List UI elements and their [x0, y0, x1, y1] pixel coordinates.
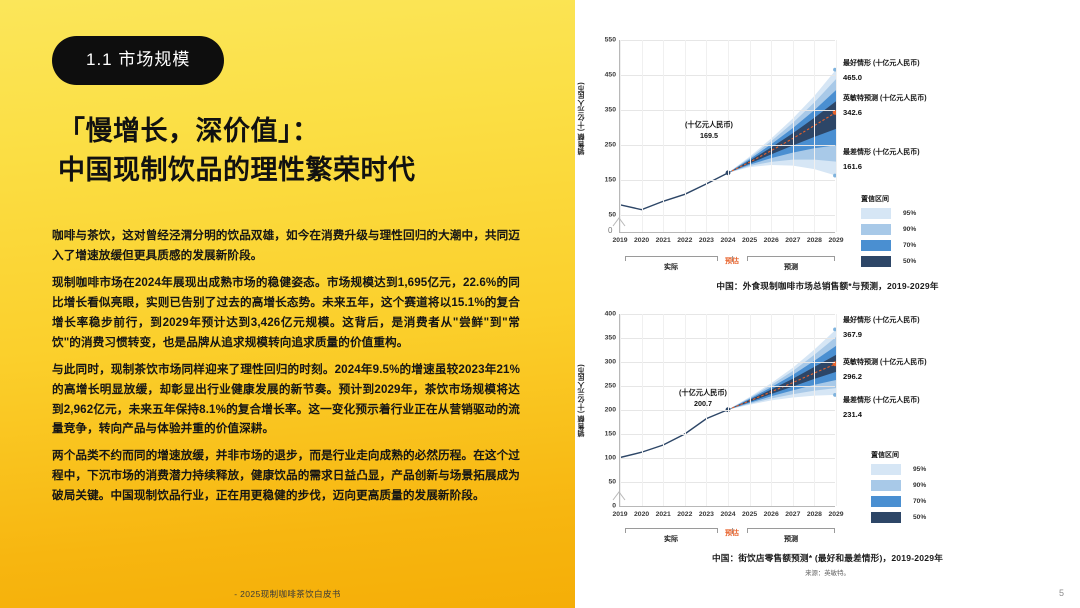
x-axis-tick: 2024: [720, 511, 735, 518]
headline-line-2: 中国现制饮品的理性繁荣时代: [58, 151, 528, 190]
chart2-current-annotation: (十亿元人民币) 200.7: [679, 388, 727, 410]
gridline-vertical: [771, 314, 772, 506]
section-number-badge: 1.1 市场规模: [52, 36, 224, 85]
x-axis-tick: 2023: [699, 237, 714, 244]
chart2-legend-label-50: 50%: [913, 514, 926, 521]
chart2-legend-title: 置信区间: [871, 450, 899, 460]
chart1-legend-swatch-50: [861, 256, 891, 267]
chart2-best-case-label: 最好情形 (十亿元人民币): [843, 317, 920, 324]
chart2-worst-case-label: 最差情形 (十亿元人民币): [843, 397, 920, 404]
chart2-legend-row-95: 95%: [871, 464, 926, 475]
chart1-legend-row-70: 70%: [861, 240, 916, 251]
chart2-worst-case-value: 231.4: [843, 409, 920, 420]
chart1-legend-label-50: 50%: [903, 258, 916, 265]
gridline-vertical: [771, 40, 772, 232]
y-axis-tick: 200: [605, 407, 616, 414]
chart2-legend-label-95: 95%: [913, 466, 926, 473]
chart2-best-case-value: 367.9: [843, 329, 920, 340]
gridline-vertical: [814, 40, 815, 232]
chart2-bracket-label-forecast: 预测: [784, 534, 798, 544]
gridline-vertical: [728, 314, 729, 506]
x-axis-tick: 2022: [677, 511, 692, 518]
x-axis-tick: 2020: [634, 237, 649, 244]
x-axis-tick: 2029: [828, 511, 843, 518]
gridline-vertical: [685, 314, 686, 506]
gridline-vertical: [642, 40, 643, 232]
historical-line: [620, 173, 728, 210]
x-axis-tick: 2026: [764, 511, 779, 518]
x-axis-tick: 2027: [785, 237, 800, 244]
page-title: 「慢增长，深价值」： 中国现制饮品的理性繁荣时代: [58, 112, 528, 190]
chart1-current-annotation: (十亿元人民币) 169.5: [685, 120, 733, 142]
chart1-mintel-value: 342.6: [843, 107, 927, 118]
x-axis-tick: 2022: [677, 237, 692, 244]
chart1-bracket-label-actual: 实际: [664, 262, 678, 272]
paragraph-4: 两个品类不约而同的增速放缓，并非市场的退步，而是行业走向成熟的必然历程。在这个过…: [52, 446, 520, 506]
x-axis-tick: 2028: [807, 237, 822, 244]
x-axis-tick: 2024: [720, 237, 735, 244]
paragraph-3: 与此同时，现制茶饮市场同样迎来了理性回归的时刻。2024年9.5%的增速虽较20…: [52, 360, 520, 440]
chart-coffee-market: 销售额 (十亿元人民币) 501502503504505502019202020…: [575, 22, 1080, 300]
chart2-axis-break-mark: [611, 488, 631, 504]
chart1-x-axis: [619, 232, 835, 233]
paragraph-1: 咖啡与茶饮，这对曾经泾渭分明的饮品双雄，如今在消费升级与理性回归的大潮中，共同迈…: [52, 226, 520, 266]
chart1-y-axis-label: 销售额 (十亿元人民币): [577, 82, 587, 155]
chart1-bracket-label-forecast: 预测: [784, 262, 798, 272]
y-axis-tick: 100: [605, 455, 616, 462]
chart2-legend-swatch-70: [871, 496, 901, 507]
gridline-vertical: [620, 314, 621, 506]
gridline-vertical: [836, 314, 837, 506]
chart1-bracket-label-estimate: 预估: [725, 256, 739, 266]
chart2-legend-label-90: 90%: [913, 482, 926, 489]
chart1-worst-case-annotation: 最差情形 (十亿元人民币) 161.6: [843, 148, 920, 172]
chart1-legend-swatch-70: [861, 240, 891, 251]
x-axis-tick: 2019: [612, 511, 627, 518]
chart1-caption: 中国：外食现制咖啡市场总销售额*与预测，2019-2029年: [575, 280, 1080, 292]
gridline-vertical: [793, 314, 794, 506]
y-axis-tick: 450: [605, 71, 616, 78]
body-copy: 咖啡与茶饮，这对曾经泾渭分明的饮品双雄，如今在消费升级与理性回归的大潮中，共同迈…: [52, 226, 520, 513]
chart2-caption: 中国：街饮店零售额预测* (最好和最差情形)，2019-2029年: [575, 552, 1080, 564]
chart1-current-value: 169.5: [700, 131, 718, 140]
gridline-vertical: [836, 40, 837, 232]
chart1-best-case-value: 465.0: [843, 72, 920, 83]
x-axis-tick: 2021: [656, 511, 671, 518]
x-axis-tick: 2019: [612, 237, 627, 244]
gridline-vertical: [750, 314, 751, 506]
chart1-mintel-forecast-annotation: 英敏特预测 (十亿元人民币) 342.6: [843, 94, 927, 118]
chart1-best-case-annotation: 最好情形 (十亿元人民币) 465.0: [843, 59, 920, 83]
chart2-y-axis-label: 销售额 (十亿元人民币): [577, 364, 587, 437]
y-axis-tick: 150: [605, 176, 616, 183]
chart1-best-case-label: 最好情形 (十亿元人民币): [843, 60, 920, 67]
x-axis-tick: 2021: [656, 237, 671, 244]
gridline-vertical: [750, 40, 751, 232]
y-axis-tick: 550: [605, 37, 616, 44]
chart2-source: 来源：英敏特。: [575, 568, 1080, 577]
chart2-mintel-value: 296.2: [843, 371, 927, 382]
chart1-legend-title: 置信区间: [861, 194, 889, 204]
x-axis-tick: 2020: [634, 511, 649, 518]
chart1-bracket-actual: [625, 256, 718, 261]
chart2-legend-swatch-90: [871, 480, 901, 491]
chart1-legend-label-95: 95%: [903, 210, 916, 217]
y-axis-tick: 350: [605, 106, 616, 113]
headline-line-1: 「慢增长，深价值」：: [58, 112, 528, 151]
y-axis-tick: 250: [605, 141, 616, 148]
chart1-mintel-label: 英敏特预测 (十亿元人民币): [843, 95, 927, 102]
chart2-mintel-forecast-annotation: 英敏特预测 (十亿元人民币) 296.2: [843, 358, 927, 382]
chart2-bracket-label-estimate: 预估: [725, 528, 739, 538]
chart1-legend-row-95: 95%: [861, 208, 916, 219]
footer-text: - 2025现制咖啡茶饮白皮书: [0, 588, 575, 600]
chart1-axis-break-mark: [611, 214, 631, 230]
x-axis-tick: 2023: [699, 511, 714, 518]
slide-page: 1.1 市场规模 「慢增长，深价值」： 中国现制饮品的理性繁荣时代 咖啡与茶饮，…: [0, 0, 1080, 608]
chart1-current-unit: (十亿元人民币): [685, 120, 733, 129]
chart2-mintel-label: 英敏特预测 (十亿元人民币): [843, 359, 927, 366]
gridline-vertical: [663, 314, 664, 506]
chart1-legend-row-90: 90%: [861, 224, 916, 235]
chart1-bracket-forecast: [747, 256, 835, 261]
gridline-vertical: [663, 40, 664, 232]
chart2-legend-label-70: 70%: [913, 498, 926, 505]
chart-tea-market: 销售额 (十亿元人民币) 050100150200250300350400201…: [575, 302, 1080, 594]
chart2-bracket-label-actual: 实际: [664, 534, 678, 544]
gridline-vertical: [793, 40, 794, 232]
y-axis-tick: 50: [608, 479, 616, 486]
chart1-legend-swatch-95: [861, 208, 891, 219]
left-content-panel: 1.1 市场规模 「慢增长，深价值」： 中国现制饮品的理性繁荣时代 咖啡与茶饮，…: [0, 0, 575, 608]
x-axis-tick: 2029: [828, 237, 843, 244]
gridline-vertical: [620, 40, 621, 232]
chart2-bracket-forecast: [747, 528, 835, 533]
gridline-vertical: [814, 314, 815, 506]
chart2-current-value: 200.7: [694, 399, 712, 408]
gridline-vertical: [642, 314, 643, 506]
chart2-x-axis: [619, 506, 835, 507]
y-axis-tick: 400: [605, 311, 616, 318]
x-axis-tick: 2028: [807, 511, 822, 518]
page-number: 5: [1059, 588, 1064, 598]
chart1-legend-label-90: 90%: [903, 226, 916, 233]
y-axis-tick: 150: [605, 431, 616, 438]
chart2-legend-row-70: 70%: [871, 496, 926, 507]
chart1-worst-case-value: 161.6: [843, 161, 920, 172]
x-axis-tick: 2025: [742, 237, 757, 244]
right-charts-panel: 销售额 (十亿元人民币) 501502503504505502019202020…: [575, 0, 1080, 608]
chart1-legend-swatch-90: [861, 224, 891, 235]
x-axis-tick: 2025: [742, 511, 757, 518]
x-axis-tick: 2026: [764, 237, 779, 244]
chart2-current-unit: (十亿元人民币): [679, 388, 727, 397]
chart2-legend-swatch-50: [871, 512, 901, 523]
gridline-vertical: [706, 314, 707, 506]
chart1-worst-case-label: 最差情形 (十亿元人民币): [843, 149, 920, 156]
chart2-bracket-actual: [625, 528, 718, 533]
chart2-plot-area: 0501001502002503003504002019202020212022…: [619, 314, 835, 506]
chart1-legend-label-70: 70%: [903, 242, 916, 249]
chart2-legend-row-50: 50%: [871, 512, 926, 523]
chart2-worst-case-annotation: 最差情形 (十亿元人民币) 231.4: [843, 396, 920, 420]
chart2-legend-swatch-95: [871, 464, 901, 475]
chart2-legend-row-90: 90%: [871, 480, 926, 491]
y-axis-tick: 350: [605, 335, 616, 342]
y-axis-tick: 300: [605, 359, 616, 366]
chart1-legend-row-50: 50%: [861, 256, 916, 267]
chart2-best-case-annotation: 最好情形 (十亿元人民币) 367.9: [843, 316, 920, 340]
y-axis-tick: 250: [605, 383, 616, 390]
x-axis-tick: 2027: [785, 511, 800, 518]
paragraph-2: 现制咖啡市场在2024年展现出成熟市场的稳健姿态。市场规模达到1,695亿元，2…: [52, 273, 520, 353]
